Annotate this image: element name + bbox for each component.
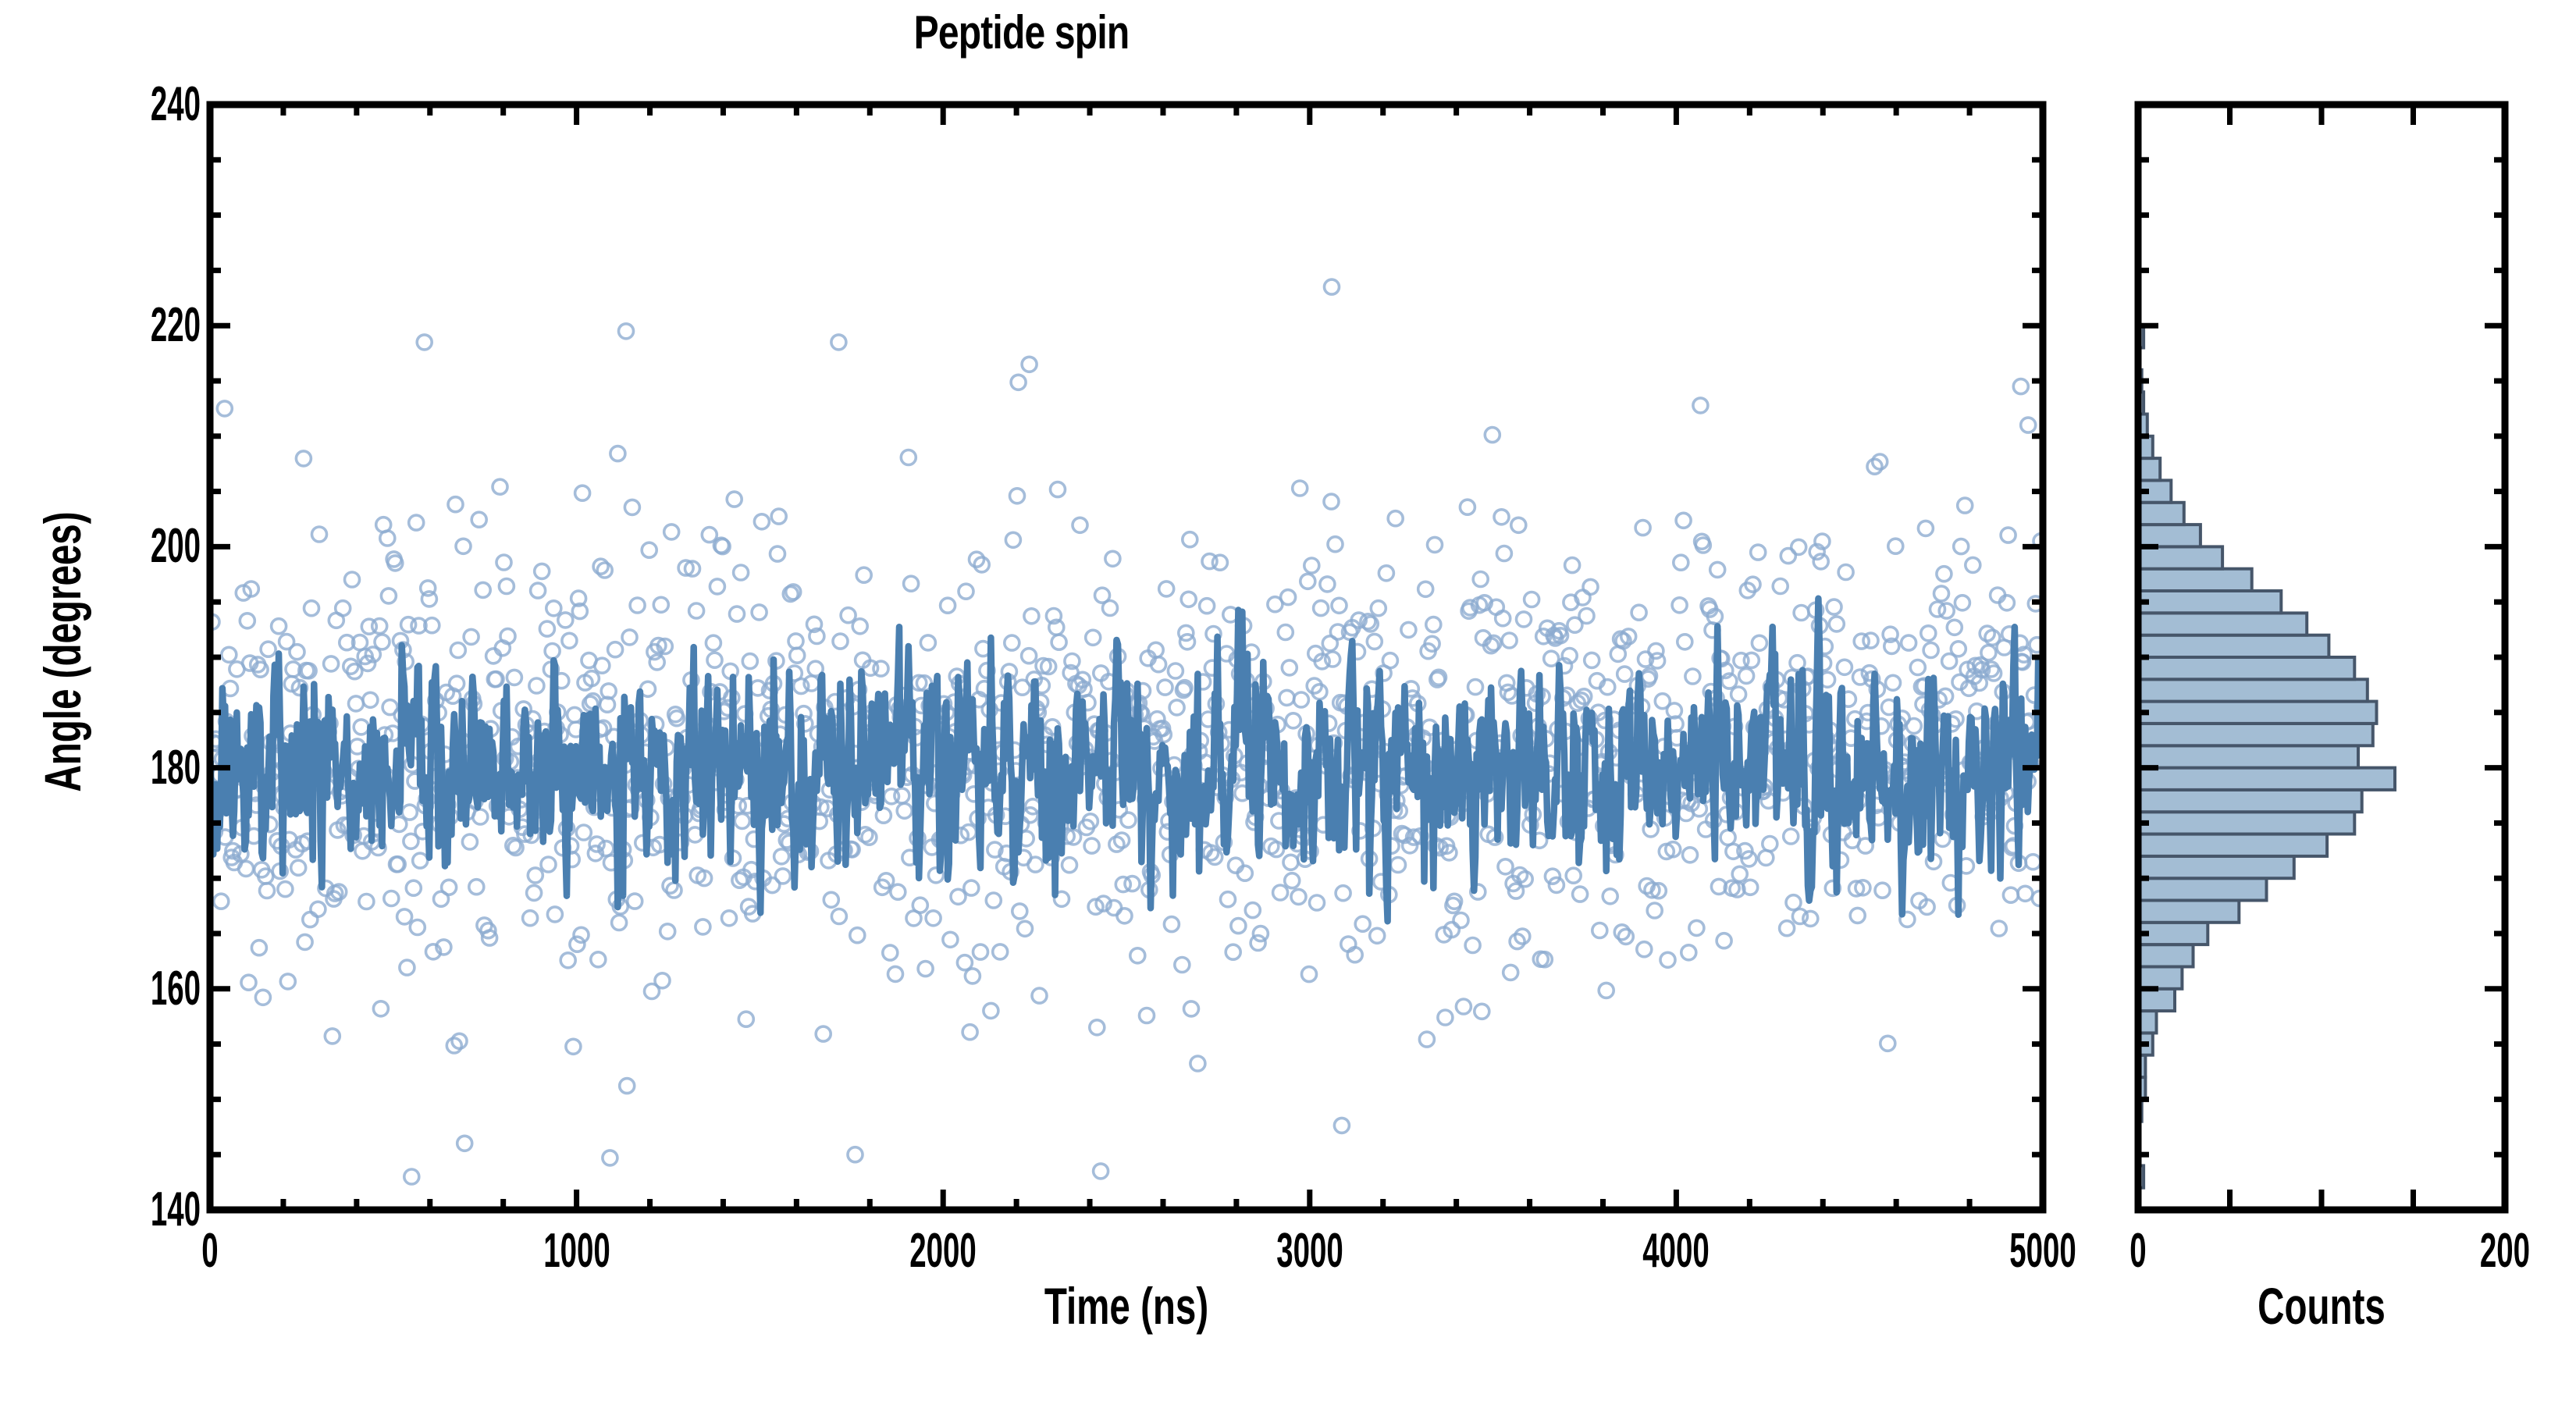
y-tick-label: 220 [84, 301, 201, 350]
chart-figure: Peptide spin 140160180200220240 01000200… [0, 0, 2576, 1405]
x-tick-label: 0 [128, 1227, 293, 1275]
x-tick-label: 2000 [861, 1227, 1026, 1275]
x-tick-label: 4000 [1594, 1227, 1759, 1275]
hist-x-tick-label: 200 [2423, 1227, 2576, 1275]
y-axis-title: Angle (degrees) [37, 315, 88, 989]
hist-x-tick-label: 0 [2056, 1227, 2221, 1275]
y-tick-label: 200 [84, 522, 201, 571]
y-tick-label: 160 [84, 965, 201, 1013]
histogram-bars [2138, 282, 2395, 1188]
main-plot-svg [0, 0, 2576, 1405]
y-tick-label: 180 [84, 744, 201, 792]
hist-x-axis-title: Counts [2190, 1280, 2453, 1332]
x-axis-title: Time (ns) [467, 1280, 1787, 1332]
y-tick-label: 240 [84, 80, 201, 129]
timeseries-line [211, 599, 2042, 921]
x-tick-label: 1000 [494, 1227, 659, 1275]
x-tick-label: 3000 [1227, 1227, 1392, 1275]
